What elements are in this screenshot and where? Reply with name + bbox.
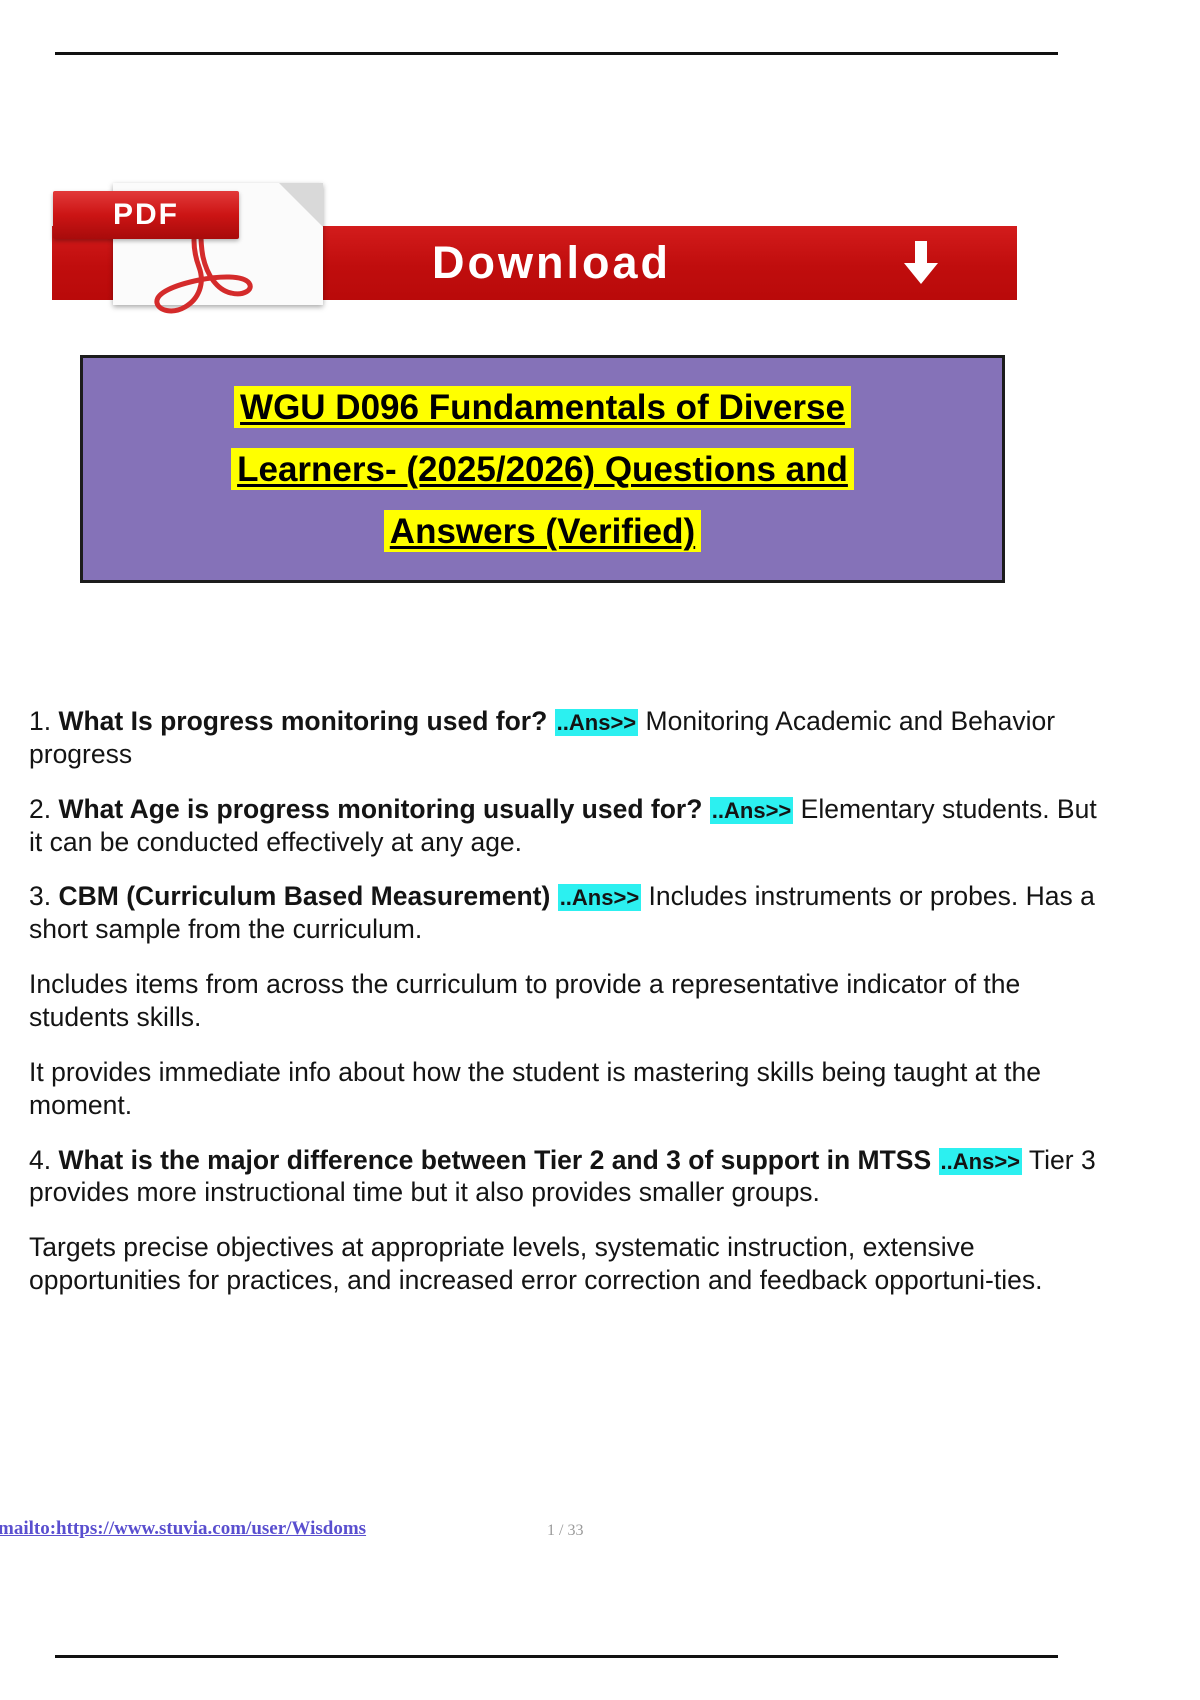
qa-item-4: 4. What is the major difference between …: [29, 1144, 1111, 1210]
pdf-badge-label: PDF: [53, 191, 239, 239]
qa-item-1-question: What Is progress monitoring used for?: [58, 706, 547, 736]
qa-item-4-number: 4.: [29, 1145, 51, 1175]
qa-item-3: 3. CBM (Curriculum Based Measurement) ..…: [29, 880, 1111, 946]
title-lines: WGU D096 Fundamentals of Diverse Learner…: [83, 358, 1002, 580]
download-button-label: Download: [432, 226, 671, 300]
footer-profile-link[interactable]: mailto:https://www.stuvia.com/user/Wisdo…: [0, 1518, 366, 1540]
qa-item-2-question: What Age is progress monitoring usually …: [58, 794, 702, 824]
document-page: Download PDF WGU D096 Fundamentals of Di…: [0, 0, 1200, 1700]
page-footer: mailto:https://www.stuvia.com/user/Wisdo…: [0, 1518, 1200, 1548]
pdf-page-fold: [279, 183, 323, 227]
qa-item-1-answer-tag: ..Ans>>: [555, 709, 638, 736]
qa-item-2-answer-tag: ..Ans>>: [710, 797, 793, 824]
download-arrow-icon: [897, 239, 945, 287]
qa-item-4-question: What is the major difference between Tie…: [58, 1145, 931, 1175]
qa-content: 1. What Is progress monitoring used for?…: [29, 705, 1111, 1319]
qa-item-2-number: 2.: [29, 794, 51, 824]
qa-item-1-number: 1.: [29, 706, 51, 736]
bottom-rule: [55, 1655, 1058, 1658]
qa-item-3-answer-tag: ..Ans>>: [558, 884, 641, 911]
qa-item-3-number: 3.: [29, 881, 51, 911]
paragraph-curriculum-items: Includes items from across the curriculu…: [29, 968, 1111, 1034]
page-title-line-3: Answers (Verified): [384, 510, 701, 552]
page-title-line-1: WGU D096 Fundamentals of Diverse: [234, 386, 851, 428]
pdf-file-icon: PDF: [113, 183, 323, 305]
page-number-indicator: 1 / 33: [547, 1522, 583, 1540]
pdf-badge: PDF: [53, 191, 239, 239]
page-title-line-2: Learners- (2025/2026) Questions and: [231, 448, 854, 490]
top-rule: [55, 52, 1058, 55]
qa-item-1: 1. What Is progress monitoring used for?…: [29, 705, 1111, 771]
title-box: WGU D096 Fundamentals of Diverse Learner…: [80, 355, 1005, 583]
qa-item-2: 2. What Age is progress monitoring usual…: [29, 793, 1111, 859]
paragraph-immediate-info: It provides immediate info about how the…: [29, 1056, 1111, 1122]
qa-item-3-question: CBM (Curriculum Based Measurement): [58, 881, 550, 911]
paragraph-targets-precise-objectives: Targets precise objectives at appropriat…: [29, 1231, 1111, 1297]
qa-item-4-answer-tag: ..Ans>>: [939, 1148, 1022, 1175]
